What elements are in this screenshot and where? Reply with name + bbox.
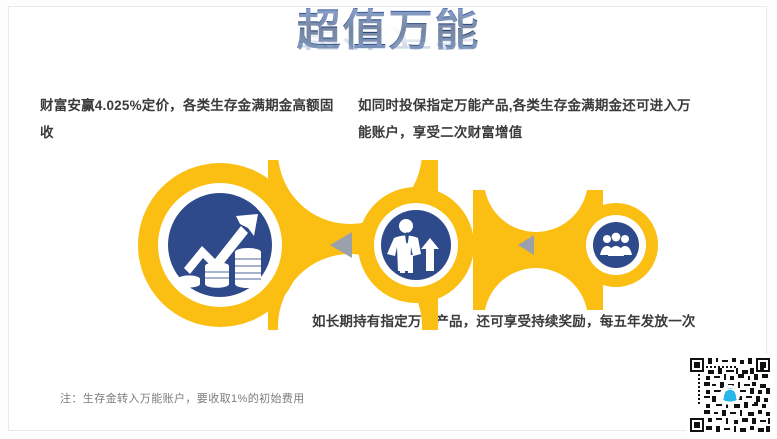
chain-node-customer[interactable] xyxy=(358,187,474,303)
benefit-text-right: 如同时投保指定万能产品,各类生存金满期金还可进入万能账户，享受二次财富增值 xyxy=(358,92,703,146)
poster-canvas: 超值万能 超值万能 财富安赢4.025%定价，各类生存金满期金高额固收 如同时投… xyxy=(0,0,777,439)
qr-code[interactable] xyxy=(686,354,774,436)
footnote-text: 注：生存金转入万能账户，要收取1%的初始费用 xyxy=(60,390,305,406)
chain-node-growth[interactable] xyxy=(138,163,302,327)
chain-node-family[interactable] xyxy=(574,203,658,287)
benefit-text-left: 财富安赢4.025%定价，各类生存金满期金高额固收 xyxy=(40,92,345,146)
chain-diagram xyxy=(118,160,658,330)
